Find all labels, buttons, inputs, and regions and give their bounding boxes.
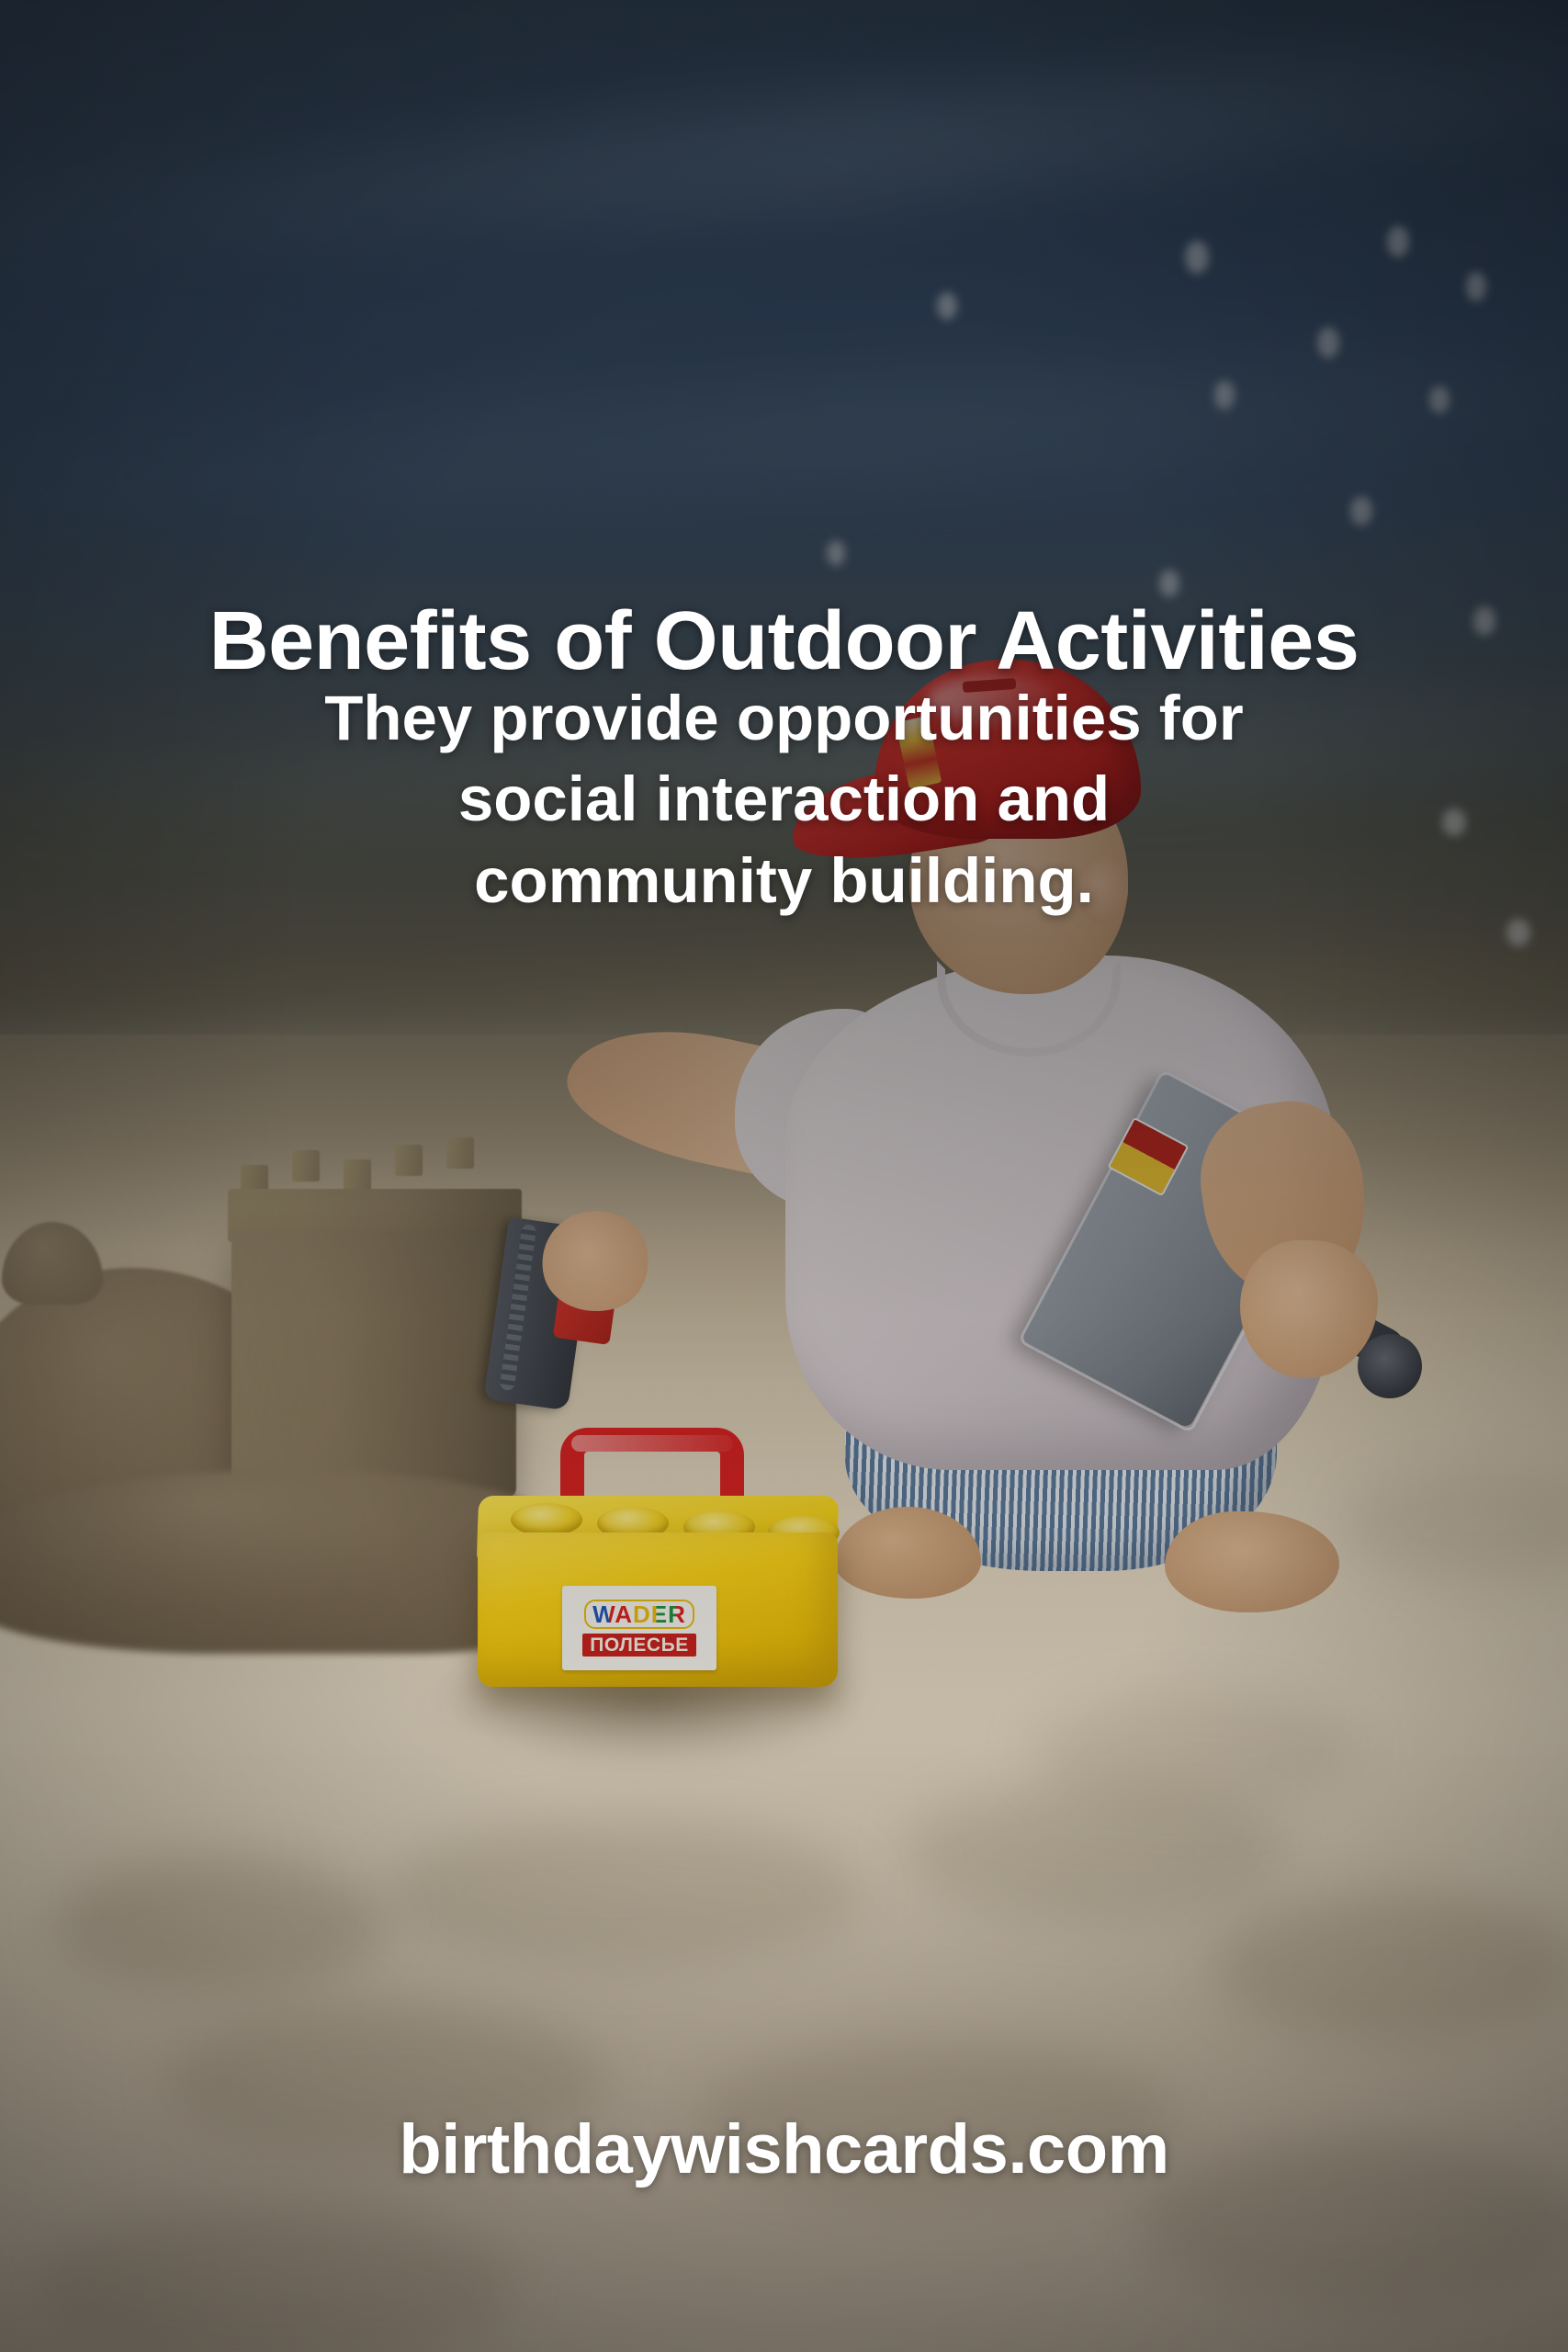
- footer-website-url[interactable]: birthdaywishcards.com: [0, 2109, 1568, 2189]
- subtitle-line-3: community building.: [0, 841, 1568, 922]
- subtitle-block: They provide opportunities for social in…: [0, 678, 1568, 922]
- subtitle-line-2: social interaction and: [0, 759, 1568, 840]
- subtitle-line-1: They provide opportunities for: [0, 678, 1568, 759]
- page-title: Benefits of Outdoor Activities: [0, 599, 1568, 685]
- text-overlay: Benefits of Outdoor Activities They prov…: [0, 0, 1568, 2352]
- social-card: WADER ПОЛЕСЬЕ Benefits of Outdoor Activi…: [0, 0, 1568, 2352]
